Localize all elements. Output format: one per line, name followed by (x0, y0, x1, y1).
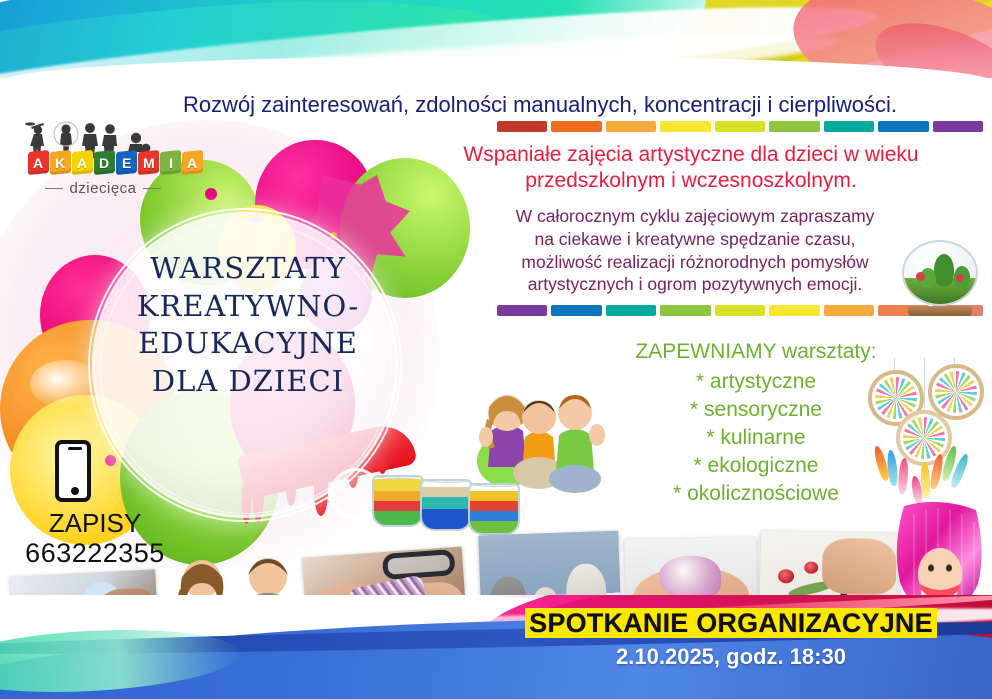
intro-line: Wspaniałe zajęcia artystyczne dla dzieci… (392, 142, 990, 168)
logo-dash-left (45, 188, 63, 189)
event-banner-text: SPOTKANIE ORGANIZACYJNE 2.10.2025, godz.… (470, 608, 992, 670)
color-bar-top-segment-3 (660, 121, 710, 132)
sand-jar (468, 483, 520, 535)
logo-akademia-dziecieca[interactable]: A K A D E M I A dziecięca (18, 118, 188, 210)
logo-subtitle: dziecięca (69, 180, 136, 197)
color-bar-top (497, 121, 983, 132)
color-bar-top-segment-4 (715, 121, 765, 132)
confetti-dot (105, 455, 116, 466)
poster-root: A K A D E M I A dziecięca Rozwój zainter… (0, 0, 992, 699)
logo-block-3: D (94, 150, 115, 175)
logo-block-6: I (160, 150, 181, 175)
color-bar-top-segment-1 (551, 121, 601, 132)
logo-letter: A (77, 155, 87, 171)
title-line: EDUKACYJNE (98, 325, 398, 363)
color-bar-top-segment-6 (824, 121, 874, 132)
title-line: DLA DZIECI (98, 363, 398, 401)
color-bar-middle-segment-1 (551, 305, 601, 316)
logo-letter: D (99, 155, 109, 171)
logo-letter: E (122, 155, 131, 171)
logo-letter: A (33, 155, 43, 171)
logo-block-1: K (50, 150, 71, 175)
logo-letter-blocks: A K A D E M I A (28, 151, 203, 174)
intro-line: przedszkolnym i wczesnoszkolnym. (392, 168, 990, 194)
photo-dreamcatchers (862, 358, 988, 506)
title-line: WARSZTATY (98, 250, 398, 288)
logo-block-2: A (72, 150, 93, 175)
logo-block-0: A (28, 150, 49, 175)
color-bar-top-segment-7 (878, 121, 928, 132)
headline: Rozwój zainteresowań, zdolności manualny… (90, 92, 990, 118)
logo-block-7: A (182, 150, 203, 175)
logo-block-5: M (138, 150, 159, 175)
smartphone-icon (55, 440, 91, 502)
top-decorative-banner (0, 0, 992, 78)
logo-letter: I (169, 155, 173, 171)
color-bar-middle-segment-3 (660, 305, 710, 316)
color-bar-middle-segment-6 (824, 305, 874, 316)
logo-letter: A (187, 155, 197, 171)
color-bar-middle-segment-2 (606, 305, 656, 316)
logo-letter: M (143, 155, 155, 171)
sand-jar (372, 475, 424, 527)
logo-block-4: E (116, 150, 137, 175)
title-line: KREATYWNO- (98, 288, 398, 326)
logo-subtitle-wrap: dziecięca (18, 180, 188, 197)
intro-paragraph-red: Wspaniałe zajęcia artystyczne dla dzieci… (392, 142, 990, 195)
sand-jar (420, 479, 472, 531)
dreamcatcher-right (928, 364, 984, 420)
event-title: SPOTKANIE ORGANIZACYJNE (525, 608, 937, 638)
color-bar-top-segment-5 (769, 121, 819, 132)
description-line: W całorocznym cyklu zajęciowym zapraszam… (400, 205, 990, 228)
color-bar-top-segment-2 (606, 121, 656, 132)
confetti-dot (205, 188, 217, 200)
color-bar-top-segment-0 (497, 121, 547, 132)
logo-letter: K (55, 155, 65, 171)
color-bar-middle-segment-0 (497, 305, 547, 316)
terrarium-image (898, 236, 982, 316)
color-bar-top-segment-8 (933, 121, 983, 132)
event-date: 2.10.2025, godz. 18:30 (470, 645, 992, 669)
main-title: WARSZTATY KREATYWNO- EDUKACYJNE DLA DZIE… (98, 250, 398, 401)
signup-label: ZAPISY (0, 508, 190, 538)
photo-colored-sand-jars (372, 455, 522, 527)
color-bar-middle-segment-5 (769, 305, 819, 316)
color-bar-middle-segment-4 (715, 305, 765, 316)
logo-dash-right (143, 188, 161, 189)
